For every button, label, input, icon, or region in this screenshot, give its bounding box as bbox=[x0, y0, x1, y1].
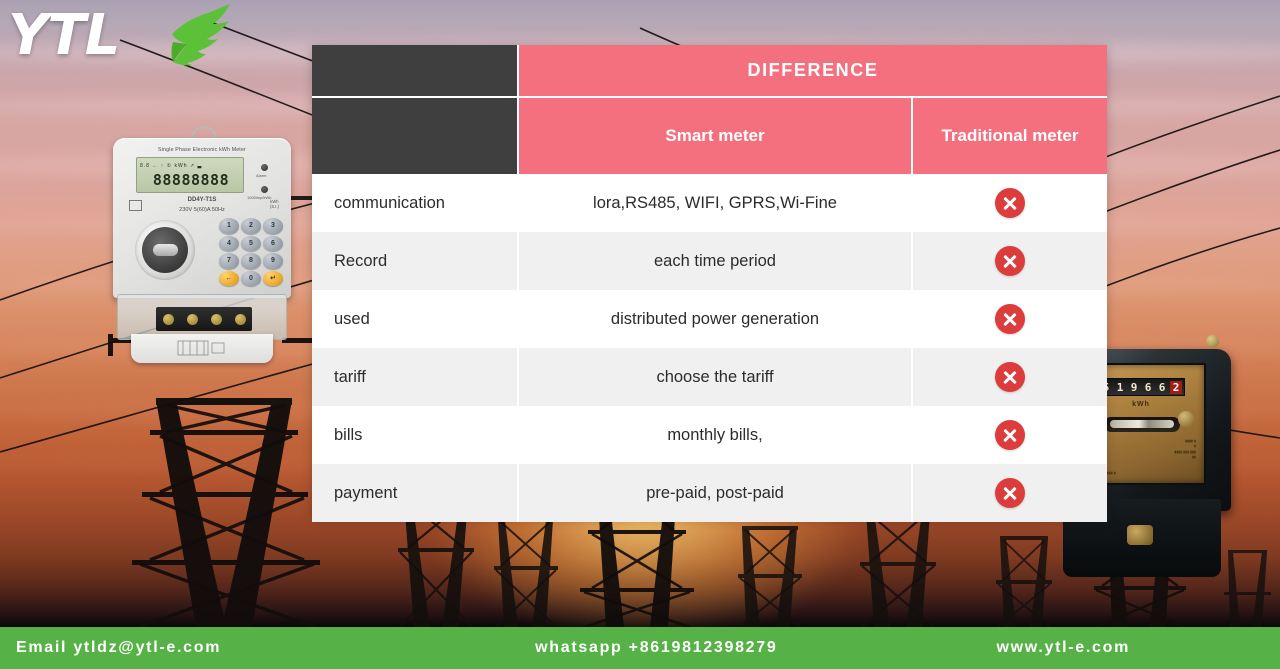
register-digit: 9 bbox=[1128, 381, 1140, 394]
x-mark-icon bbox=[995, 478, 1025, 508]
row-smart-value: monthly bills, bbox=[519, 406, 913, 464]
key-2: 2 bbox=[241, 218, 261, 234]
table-row: tariff choose the tariff bbox=[312, 348, 1107, 406]
smart-meter-lcd-display: 8.8 ← ↑ ① kWh ↗ ▃ 88888888 bbox=[136, 157, 244, 193]
key-9: 9 bbox=[263, 253, 283, 269]
row-traditional-value bbox=[913, 406, 1107, 464]
table-row: payment pre-paid, post-paid bbox=[312, 464, 1107, 522]
terminal-block bbox=[156, 307, 252, 331]
column-header-traditional-meter: Traditional meter bbox=[913, 98, 1107, 174]
row-traditional-value bbox=[913, 464, 1107, 522]
table-row: communication lora,RS485, WIFI, GPRS,Wi-… bbox=[312, 174, 1107, 232]
table-row: Record each time period bbox=[312, 232, 1107, 290]
row-traditional-value bbox=[913, 232, 1107, 290]
table-header-top-row: DIFFERENCE bbox=[312, 45, 1107, 98]
impulse-led-icon bbox=[261, 186, 268, 193]
key-4: 4 bbox=[219, 236, 239, 252]
row-smart-value: each time period bbox=[519, 232, 913, 290]
lcd-indicator-row: 8.8 ← ↑ ① kWh ↗ ▃ bbox=[140, 160, 242, 171]
register-digit: 6 bbox=[1156, 381, 1168, 394]
row-feature-label: bills bbox=[312, 406, 519, 464]
row-traditional-value bbox=[913, 348, 1107, 406]
x-mark-icon bbox=[995, 188, 1025, 218]
smart-meter-spec: 230V 5(60)A 50Hz bbox=[113, 207, 291, 213]
footer-website[interactable]: www.ytl-e.com bbox=[996, 639, 1130, 657]
row-feature-label: tariff bbox=[312, 348, 519, 406]
x-mark-icon bbox=[995, 304, 1025, 334]
terminal-screw bbox=[187, 314, 198, 325]
kwh-unit-label: kWh(S.I.) bbox=[270, 199, 279, 210]
alarm-led-icon bbox=[261, 164, 268, 171]
key-6: 6 bbox=[263, 236, 283, 252]
rotating-disc-window bbox=[1104, 417, 1180, 432]
register-digit: 1 bbox=[1114, 381, 1126, 394]
company-logo: YTL bbox=[8, 4, 238, 74]
key-5: 5 bbox=[241, 236, 261, 252]
smart-meter-product-image: Single Phase Electronic kWh Meter 8.8 ← … bbox=[113, 138, 291, 363]
table-header-sub-row: Smart meter Traditional meter bbox=[312, 98, 1107, 174]
x-mark-icon bbox=[995, 246, 1025, 276]
row-smart-value: lora,RS485, WIFI, GPRS,Wi-Fine bbox=[519, 174, 913, 232]
key-8: 8 bbox=[241, 253, 261, 269]
meter-base-bracket bbox=[131, 334, 273, 363]
key-7: 7 bbox=[219, 253, 239, 269]
table-row: bills monthly bills, bbox=[312, 406, 1107, 464]
wiring-diagram-icon bbox=[177, 339, 227, 358]
poster-canvas: Single Phase Electronic kWh Meter 8.8 ← … bbox=[0, 0, 1280, 669]
table-title-difference: DIFFERENCE bbox=[519, 45, 1107, 98]
row-feature-label: communication bbox=[312, 174, 519, 232]
register-digit-decimal: 2 bbox=[1170, 381, 1182, 394]
table-row: used distributed power generation bbox=[312, 290, 1107, 348]
card-slot bbox=[153, 244, 178, 256]
traditional-label-line2: meter bbox=[1032, 125, 1078, 146]
card-reader-dial bbox=[135, 220, 195, 280]
traditional-label-line1: Traditional bbox=[941, 125, 1027, 146]
key-1: 1 bbox=[219, 218, 239, 234]
rotating-disc bbox=[1110, 420, 1174, 428]
row-feature-label: payment bbox=[312, 464, 519, 522]
alarm-led-label: Alarm bbox=[256, 173, 266, 178]
adjust-knob bbox=[1178, 411, 1194, 427]
row-smart-value: pre-paid, post-paid bbox=[519, 464, 913, 522]
row-traditional-value bbox=[913, 290, 1107, 348]
key-enter-icon: ↵ bbox=[263, 271, 283, 287]
smart-meter-body: Single Phase Electronic kWh Meter 8.8 ← … bbox=[113, 138, 291, 298]
footer-whatsapp[interactable]: whatsapp +8619812398279 bbox=[535, 639, 777, 657]
key-0: 0 bbox=[241, 271, 261, 287]
row-feature-label: Record bbox=[312, 232, 519, 290]
impulse-led-label: 1000imp/kWh bbox=[247, 195, 271, 200]
footer-email[interactable]: Email ytldz@ytl-e.com bbox=[16, 639, 221, 657]
header-blank-cell-2 bbox=[312, 98, 519, 174]
logo-wordmark: YTL bbox=[8, 8, 119, 64]
header-blank-cell bbox=[312, 45, 519, 98]
contact-footer-bar: Email ytldz@ytl-e.com whatsapp +86198123… bbox=[0, 627, 1280, 669]
faceplate-spec-right: ▮▮▮▮ ▮▮▮▮▮▮ ▮▮▮ ▮▮▮▮▮ bbox=[1174, 439, 1196, 461]
card-reader-inner bbox=[142, 227, 188, 273]
key-3: 3 bbox=[263, 218, 283, 234]
terminal-screw bbox=[235, 314, 246, 325]
x-mark-icon bbox=[995, 420, 1025, 450]
terminal-screw bbox=[211, 314, 222, 325]
smart-meter-title: Single Phase Electronic kWh Meter bbox=[113, 147, 291, 153]
terminal-lug bbox=[1127, 525, 1153, 545]
row-smart-value: choose the tariff bbox=[519, 348, 913, 406]
row-smart-value: distributed power generation bbox=[519, 290, 913, 348]
eagle-icon bbox=[160, 4, 238, 66]
comparison-table: DIFFERENCE Smart meter Traditional meter… bbox=[312, 45, 1107, 518]
x-mark-icon bbox=[995, 362, 1025, 392]
seal-screw bbox=[1206, 335, 1219, 348]
row-feature-label: used bbox=[312, 290, 519, 348]
terminal-screw bbox=[163, 314, 174, 325]
register-digit: 6 bbox=[1142, 381, 1154, 394]
column-header-smart-meter: Smart meter bbox=[519, 98, 913, 174]
lcd-digits: 88888888 bbox=[140, 171, 242, 189]
key-backspace-icon: ← bbox=[219, 271, 239, 287]
mechanical-register: 5 1 9 6 6 2 bbox=[1097, 378, 1185, 396]
row-traditional-value bbox=[913, 174, 1107, 232]
smart-meter-keypad: 1 2 3 4 5 6 7 8 9 ← 0 ↵ bbox=[219, 218, 283, 286]
